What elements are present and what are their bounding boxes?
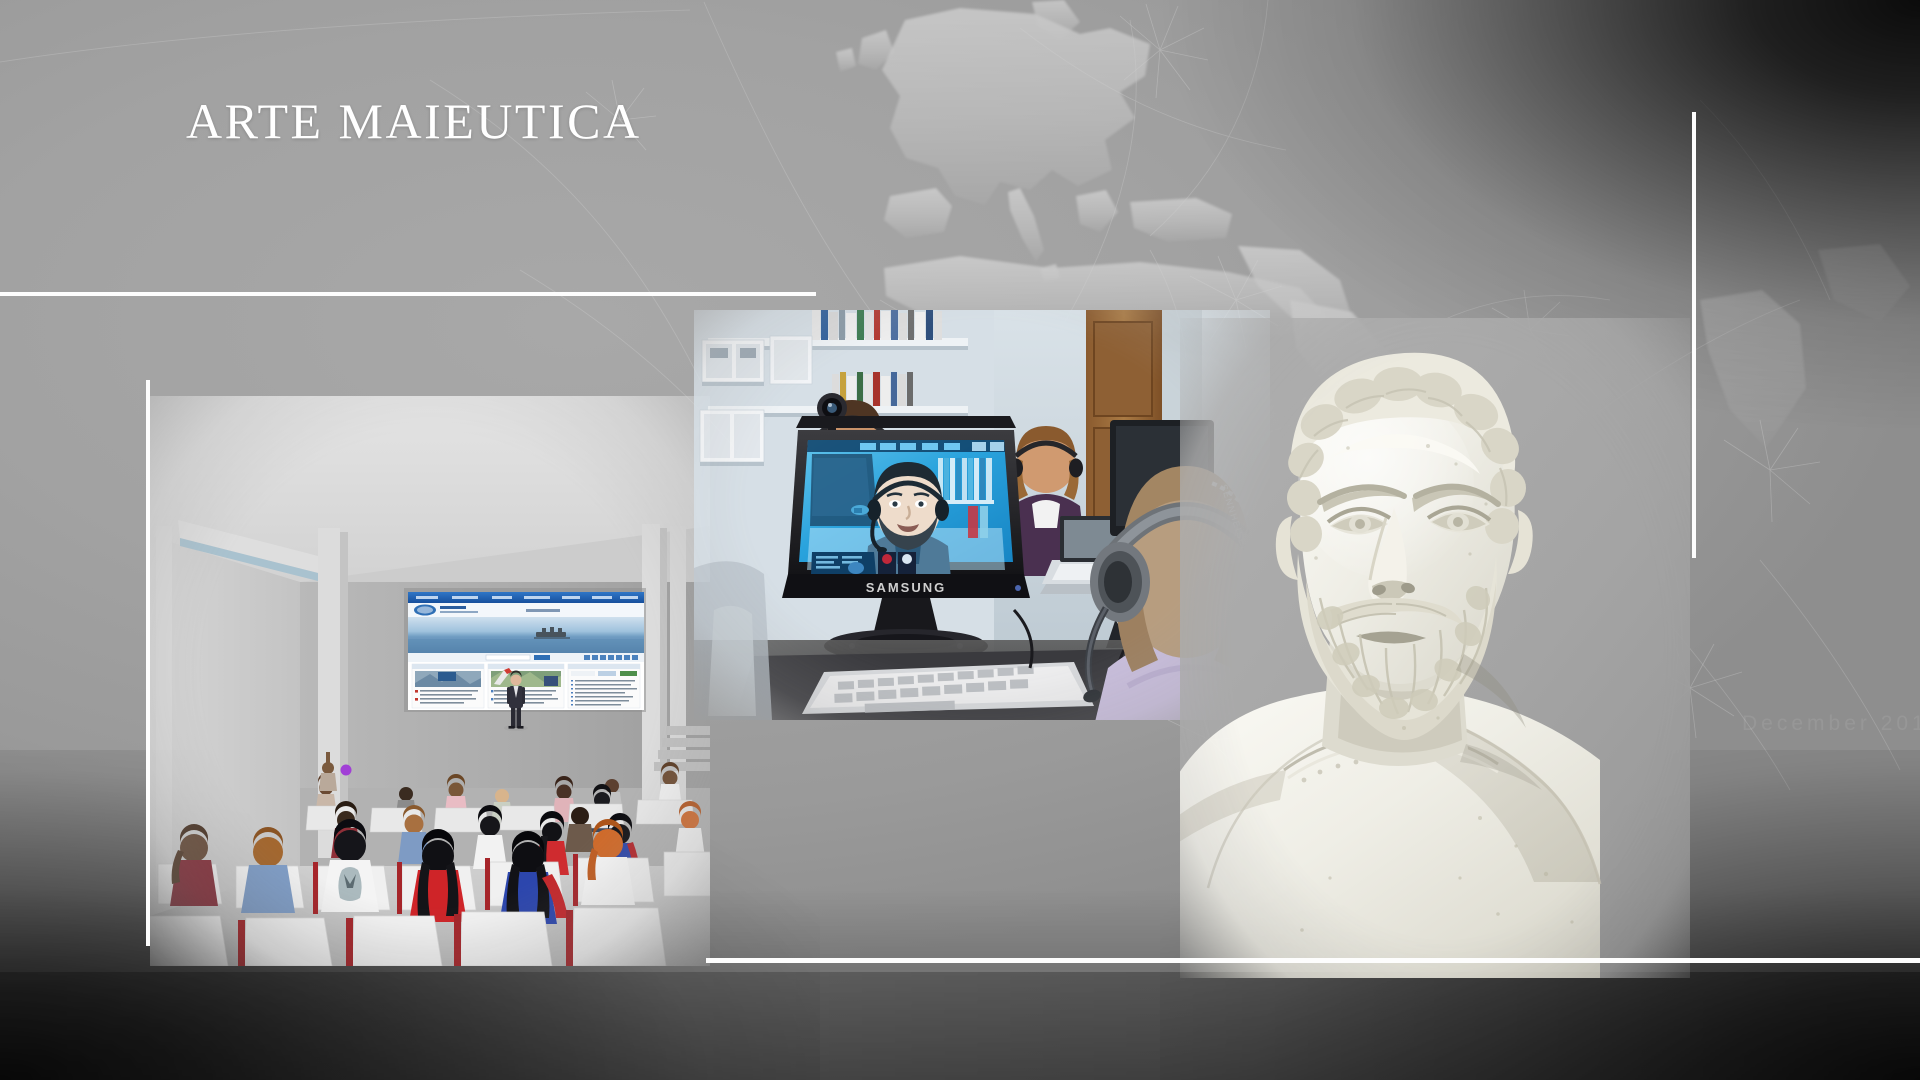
rule-left (146, 380, 150, 946)
page-title: ARTE MAIEUTICA (186, 92, 642, 150)
rule-right (1692, 112, 1696, 558)
rule-top (0, 292, 816, 296)
svg-text:SAMSUNG: SAMSUNG (866, 580, 946, 595)
virtual-classroom-image (150, 396, 710, 966)
date-watermark: December 2010 (1742, 712, 1920, 736)
bottom-dark-strip (0, 972, 1920, 1080)
rule-bottom (706, 958, 1920, 963)
presentation-slide: SAMSUNG (0, 0, 1920, 1080)
socrates-bust-image (1180, 318, 1690, 978)
